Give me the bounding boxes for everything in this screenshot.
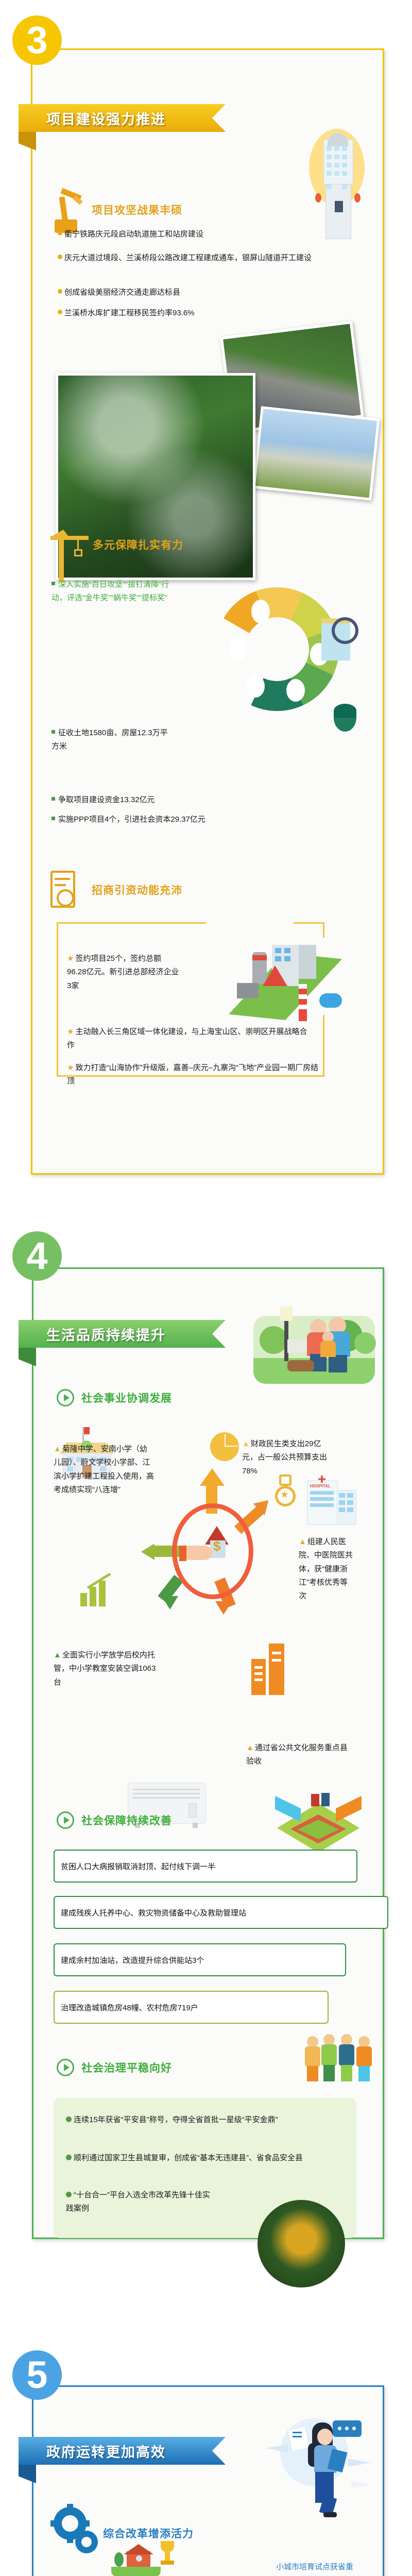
section3-sub1-bullet-1: 衢宁铁路庆元段启动轨道施工和站房建设 — [58, 228, 325, 241]
star-icon: ★ — [67, 954, 74, 963]
hospital-building-illustration: HOSPITAL — [307, 1476, 356, 1525]
section3-sub3-bullet-3: ★致力打造“山海协作”升级版，嘉善–庆元–九寨沟“飞地”产业园一期厂房结顶 — [67, 1061, 319, 1089]
chevron-circle-icon — [57, 1389, 74, 1406]
triangle-icon: ▲ — [54, 1651, 61, 1659]
four-people-illustration — [305, 2029, 377, 2086]
section3-sub1-bullet-4: 兰溪桥水库扩建工程移民签约率93.6% — [58, 307, 325, 320]
triangle-icon: ▲ — [299, 1537, 306, 1546]
subsection-project-breakthrough-title: 项目攻坚战果丰硕 — [92, 202, 182, 217]
bullet-dot-icon — [66, 2116, 72, 2122]
section4-sub3-bullet-2: 顺利通过国家卫生县城复审，创成省“基本无违建县”、省食品安全县 — [66, 2151, 352, 2165]
section3-ribbon-tail — [19, 132, 36, 150]
subsection-social-security-title: 社会保障持续改善 — [81, 1812, 172, 1828]
social-security-box-3: 建成余村加油站，改造提升综合供能站3个 — [54, 1943, 346, 1976]
subsection-social-undertakings-title: 社会事业协调发展 — [81, 1390, 172, 1405]
section4-sub3-bullet-3: “十台合一”平台入选全市改革先锋十佳实践案例 — [66, 2189, 210, 2216]
section5-sub1-item-1: 小城市培育试点获省重点生态功能区优秀县 — [276, 2561, 353, 2576]
section4-title: 生活品质持续提升 — [46, 1324, 166, 1344]
industrial-city-illustration — [221, 922, 350, 1036]
bullet-dot-icon — [58, 310, 62, 314]
chevron-circle-icon — [57, 1811, 74, 1829]
office-building-illustration — [303, 124, 370, 242]
section3-number-badge: 3 — [12, 15, 62, 65]
triangle-icon: ▲ — [54, 1445, 61, 1453]
section4-number-badge: 4 — [12, 1231, 62, 1281]
subsection-investment-title: 招商引资动能充沛 — [92, 882, 182, 897]
section5-title: 政府运转更加高效 — [46, 2441, 166, 2461]
section3-sub1-bullet-3: 创成省级美丽经济交通走廊达标县 — [58, 286, 325, 299]
section4-sub1-left-item-2: ▲全面实行小学放学后校内托管，中小学教室安装空调1063台 — [54, 1649, 157, 1689]
section3-sub2-bullet-3: 争取项目建设资金13.32亿元 — [51, 793, 257, 807]
subsection-multi-guarantee-title: 多元保障扎实有力 — [93, 537, 183, 552]
section4-title-ribbon: 生活品质持续提升 — [19, 1320, 226, 1348]
bullet-dot-icon — [58, 231, 62, 235]
chevron-circle-icon — [57, 2059, 74, 2076]
bullet-square-icon — [51, 730, 55, 734]
section4-sub1-right-item-2: ▲组建人民医院、中医院医共体，获“健康浙江”考核优秀等次 — [299, 1535, 353, 1603]
social-welfare-arrows-illustration: $ — [133, 1468, 282, 1638]
infographic-page: 3 项目建设强力推进 — [0, 0, 412, 2576]
growth-bars-icon — [80, 1577, 116, 1607]
section4-sub1-right-item-3: ▲通过省公共文化服务重点县验收 — [246, 1741, 349, 1769]
social-security-box-2: 建成残疾人托养中心、救灾物资储备中心及救助管理站 — [54, 1896, 388, 1929]
section3-sub3-bullet-2: ★主动融入长三角区域一体化建设，与上海宝山区、崇明区开展战略合作 — [67, 1025, 314, 1053]
section4-ribbon-tail — [19, 1348, 36, 1366]
railway-station-photo — [252, 406, 380, 500]
section4-sub3-bullet-1: 连续15年获省“平安县”称号，夺得全省首批一星级“平安金鼎” — [66, 2113, 352, 2127]
social-security-box-1: 贫困人口大病报销取消封顶、起付线下调一半 — [54, 1850, 357, 1883]
sports-field-illustration — [272, 1788, 365, 1860]
section3-sub2-bullet-1: 深入实施“百日攻坚”“拔钉清障”行动，评选“金牛奖”“蜗牛奖”“提标奖” — [51, 578, 170, 605]
subsection-social-governance-title: 社会治理平稳向好 — [81, 2060, 172, 2075]
section3-title-ribbon: 项目建设强力推进 — [19, 104, 226, 132]
section3-sub2-bullet-4: 实施PPP项目4个，引进社会资本29.37亿元 — [51, 813, 340, 826]
section3-sub2-bullet-2: 征收土地1580亩、房屋12.3万平方米 — [51, 726, 170, 754]
section3-number: 3 — [26, 21, 47, 59]
bullet-dot-icon — [58, 289, 62, 294]
running-woman-illustration — [257, 2414, 371, 2522]
bullet-dot-icon — [58, 255, 62, 259]
family-park-illustration — [253, 1302, 375, 1385]
house-trophy-illustration — [111, 2540, 178, 2576]
pingan-golden-ding-photo — [257, 2200, 345, 2287]
section4-number: 4 — [26, 1237, 47, 1275]
bullet-dot-icon — [66, 2155, 72, 2160]
star-icon: ★ — [67, 1027, 74, 1036]
bullet-square-icon — [51, 797, 55, 801]
section3-title: 项目建设强力推进 — [46, 108, 166, 128]
star-icon: ★ — [67, 1063, 74, 1072]
multi-guarantee-donut-illustration — [215, 587, 354, 726]
section5-title-ribbon: 政府运转更加高效 — [19, 2437, 226, 2465]
section5-ribbon-tail — [19, 2465, 36, 2483]
bullet-square-icon — [51, 817, 55, 820]
triangle-icon: ▲ — [242, 1439, 250, 1448]
section3-sub1-bullet-2: 庆元大道过境段、兰溪桥段公路改建工程建成通车，银屏山隧道开工建设 — [58, 251, 331, 265]
triangle-icon: ▲ — [246, 1743, 254, 1752]
medal-icon: ★ — [272, 1475, 299, 1512]
bullet-square-icon — [51, 582, 55, 585]
bullet-dot-icon — [66, 2192, 72, 2197]
subsection-comprehensive-reform-title: 综合改革增添活力 — [103, 2526, 194, 2541]
orange-building-icon — [251, 1643, 287, 1695]
pie-chart-icon — [210, 1432, 239, 1461]
investment-doc-icon — [47, 871, 79, 912]
section5-number: 5 — [26, 2356, 47, 2394]
social-security-box-4: 治理改造城镇危房48幢、农村危房719户 — [54, 1991, 329, 2024]
section3-sub3-bullet-1: ★签约项目25个，签约总额96.28亿元。新引进总部经济企业3家 — [67, 952, 180, 993]
tower-crane-icon — [46, 520, 88, 582]
section5-number-badge: 5 — [12, 2350, 62, 2400]
